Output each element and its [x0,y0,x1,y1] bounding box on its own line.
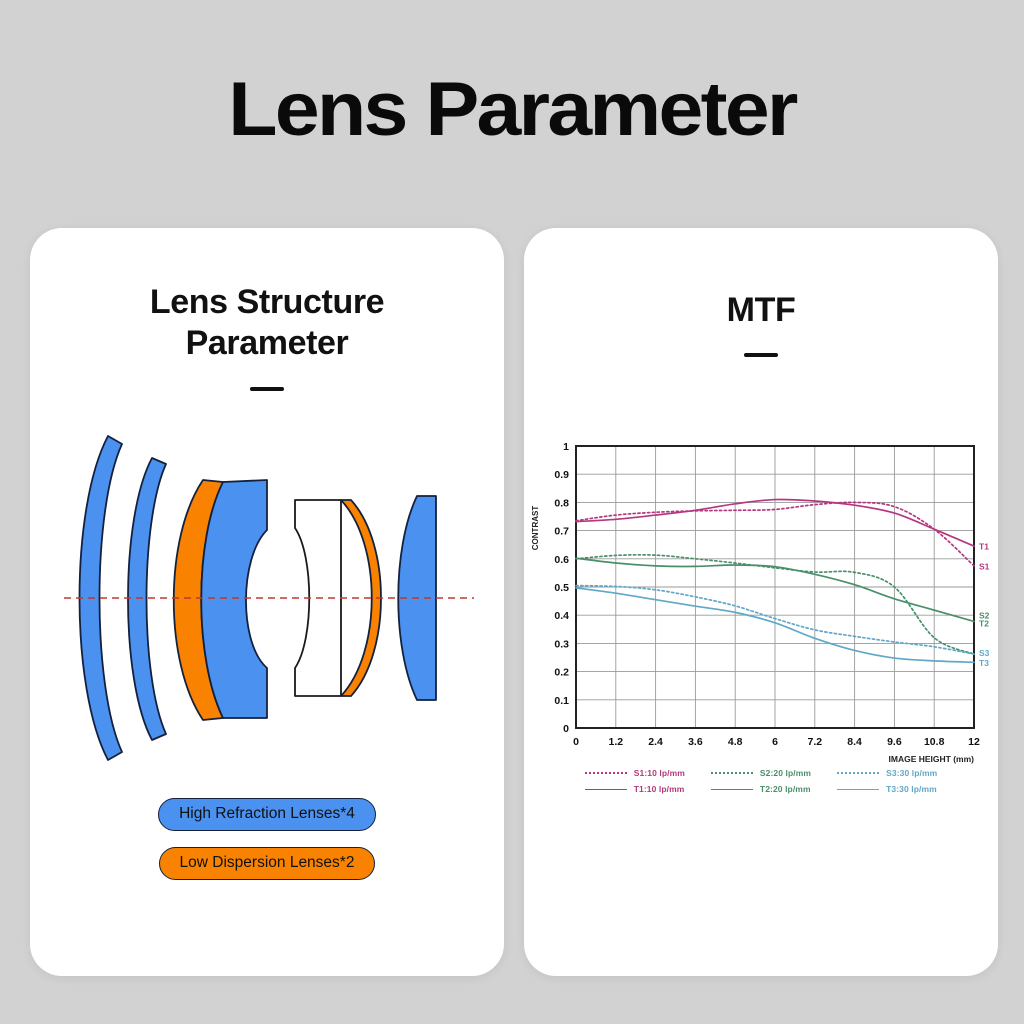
y-tick-label: 0.6 [554,554,569,566]
series-end-label-t2: T2 [979,619,989,629]
legend-item: T1:10 lp/mm [585,784,685,794]
lens-legend-badges: High Refraction Lenses*4 Low Dispersion … [30,798,504,880]
y-tick-label: 0.9 [554,469,569,481]
legend-swatch-icon [585,772,627,774]
lens-structure-heading-line1: Lens Structure [30,282,504,323]
x-tick-label: 2.4 [648,736,663,748]
x-tick-label: 9.6 [887,736,902,748]
legend-label: T3:30 lp/mm [886,784,937,794]
y-tick-label: 1 [563,441,569,453]
legend-swatch-icon [837,789,879,790]
series-end-label-s1: S1 [979,561,990,571]
mtf-heading: MTF [524,290,998,331]
y-tick-label: 0.8 [554,497,569,509]
y-tick-label: 0.4 [554,610,569,622]
y-tick-label: 0.3 [554,638,569,650]
legend-item: S3:30 lp/mm [837,768,937,778]
legend-item: S2:20 lp/mm [711,768,811,778]
legend-swatch-icon [585,789,627,790]
mtf-card: MTF 01.22.43.64.867.28.49.610.812 00.10.… [524,228,998,976]
legend-item: T3:30 lp/mm [837,784,937,794]
x-tick-label: 3.6 [688,736,703,748]
y-tick-label: 0 [563,723,569,735]
lens-structure-card: Lens Structure Parameter High Refraction… [30,228,504,976]
lens-element-2-high-refraction [128,458,166,740]
legend-swatch-icon [837,772,879,774]
mtf-y-axis-tick-labels: 00.10.20.30.40.50.60.70.80.91 [554,441,569,735]
y-tick-label: 0.7 [554,526,569,538]
legend-item: T2:20 lp/mm [711,784,811,794]
series-end-label-s3: S3 [979,648,990,658]
lens-element-4-high-refraction [201,480,267,718]
legend-group: S1:10 lp/mmT1:10 lp/mm [585,768,685,794]
series-end-label-t3: T3 [979,658,989,668]
legend-label: S1:10 lp/mm [634,768,685,778]
y-tick-label: 0.1 [554,695,569,707]
lens-structure-heading-line2: Parameter [30,323,504,364]
x-tick-label: 0 [573,736,579,748]
mtf-x-axis-tick-labels: 01.22.43.64.867.28.49.610.812 [573,736,980,748]
x-tick-label: 12 [968,736,980,748]
lens-structure-heading-wrap: Lens Structure Parameter [30,228,504,391]
x-tick-label: 10.8 [924,736,945,748]
x-tick-label: 6 [772,736,778,748]
badge-high-refraction-lenses: High Refraction Lenses*4 [158,798,376,831]
mtf-legend: S1:10 lp/mmT1:10 lp/mmS2:20 lp/mmT2:20 l… [524,768,998,794]
lens-cross-section-diagram [64,418,474,778]
mtf-heading-divider [744,353,778,357]
legend-label: T2:20 lp/mm [760,784,811,794]
legend-label: S3:30 lp/mm [886,768,937,778]
lens-structure-heading: Lens Structure Parameter [30,282,504,365]
page-title: Lens Parameter [0,72,1024,148]
mtf-y-axis-title: CONTRAST [531,506,540,551]
lens-structure-heading-divider [250,387,284,391]
mtf-chart: 01.22.43.64.867.28.49.610.812 00.10.20.3… [524,428,998,808]
series-end-label-t1: T1 [979,542,989,552]
legend-swatch-icon [711,772,753,774]
x-tick-label: 8.4 [847,736,862,748]
mtf-series-end-labels: T1S1S2T2S3T3 [979,542,990,668]
x-tick-label: 7.2 [807,736,822,748]
x-tick-label: 4.8 [728,736,743,748]
legend-swatch-icon [711,789,753,790]
legend-label: T1:10 lp/mm [634,784,685,794]
legend-label: S2:20 lp/mm [760,768,811,778]
legend-group: S2:20 lp/mmT2:20 lp/mm [711,768,811,794]
legend-group: S3:30 lp/mmT3:30 lp/mm [837,768,937,794]
mtf-heading-wrap: MTF [524,228,998,357]
y-tick-label: 0.2 [554,667,569,679]
badge-low-dispersion-lenses: Low Dispersion Lenses*2 [159,847,376,880]
legend-item: S1:10 lp/mm [585,768,685,778]
y-tick-label: 0.5 [554,582,569,594]
x-tick-label: 1.2 [608,736,623,748]
mtf-x-axis-title: IMAGE HEIGHT (mm) [889,754,975,764]
